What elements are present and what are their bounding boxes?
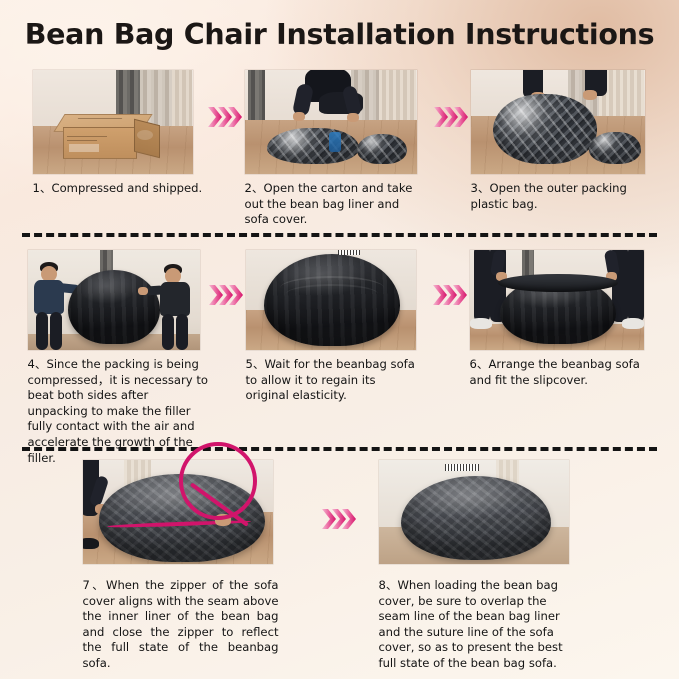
step-card-8: 8、When loading the bean bag cover, be su…: [365, 460, 615, 672]
step-row-2: 4、Since the packing is being compressed，…: [0, 250, 679, 466]
arrow-step-7-to-8: [321, 506, 359, 532]
step-card-7: 7、When the zipper of the sofa cover alig…: [65, 460, 315, 672]
step-photo-3: [471, 70, 645, 174]
step-photo-4: [28, 250, 200, 350]
step-photo-7: [83, 460, 273, 564]
arrow-step-4-to-5: [208, 282, 246, 308]
step-caption-2: 2、Open the carton and take out the bean …: [245, 181, 421, 228]
step-caption-5: 5、Wait for the beanbag sofa to allow it …: [246, 357, 422, 404]
step-caption-8: 8、When loading the bean bag cover, be su…: [379, 578, 575, 672]
arrow-step-2-to-3: [433, 104, 471, 130]
step-card-3: 3、Open the outer packing plastic bag.: [471, 70, 661, 212]
zipper-callout-circle: [179, 442, 257, 520]
step-card-1: 1、Compressed and shipped.: [19, 70, 207, 197]
instruction-infographic: Bean Bag Chair Installation Instructions: [0, 0, 679, 679]
step-row-1: 1、Compressed and shipped.: [0, 70, 679, 228]
step-photo-1: [33, 70, 193, 174]
step-caption-6: 6、Arrange the beanbag sofa and fit the s…: [470, 357, 650, 388]
page-title: Bean Bag Chair Installation Instructions: [0, 18, 679, 51]
divider-row-1-2: [22, 233, 657, 237]
step-caption-7: 7、When the zipper of the sofa cover alig…: [83, 578, 279, 672]
step-caption-3: 3、Open the outer packing plastic bag.: [471, 181, 651, 212]
step-row-3: 7、When the zipper of the sofa cover alig…: [0, 460, 679, 672]
divider-row-2-3: [22, 447, 657, 451]
step-photo-8: [379, 460, 569, 564]
step-photo-2: [245, 70, 417, 174]
step-photo-6: [470, 250, 644, 350]
step-card-2: 2、Open the carton and take out the bean …: [245, 70, 433, 228]
step-card-6: 6、Arrange the beanbag sofa and fit the s…: [470, 250, 660, 388]
arrow-step-5-to-6: [432, 282, 470, 308]
arrow-step-1-to-2: [207, 104, 245, 130]
step-photo-5: [246, 250, 416, 350]
step-card-5: 5、Wait for the beanbag sofa to allow it …: [246, 250, 432, 404]
step-caption-1: 1、Compressed and shipped.: [33, 181, 205, 197]
step-card-4: 4、Since the packing is being compressed，…: [20, 250, 208, 466]
